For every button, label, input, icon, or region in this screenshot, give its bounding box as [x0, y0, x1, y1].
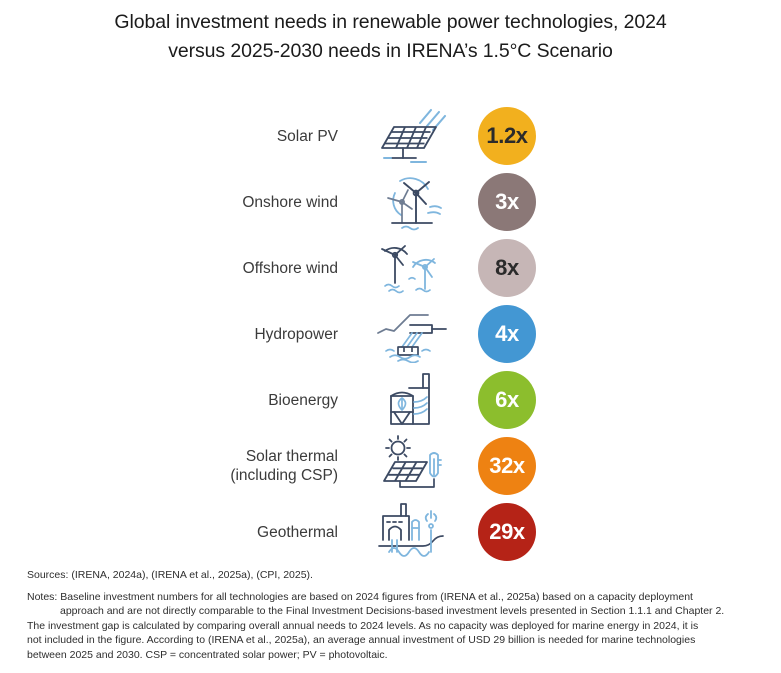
- table-row: Onshore wind: [0, 169, 781, 235]
- table-row: Offshore wind: [0, 235, 781, 301]
- notes-line-3: The investment gap is calculated by comp…: [27, 619, 762, 634]
- badge-circle: 32x: [478, 437, 536, 495]
- row-label-line1: Offshore wind: [243, 260, 338, 277]
- row-label-solar-thermal: Solar thermal (including CSP): [150, 447, 338, 485]
- row-label-line1: Solar PV: [277, 128, 338, 145]
- page-title: Global investment needs in renewable pow…: [0, 8, 781, 66]
- row-label-onshore-wind: Onshore wind: [150, 193, 338, 212]
- notes-line-4: not included in the figure. According to…: [27, 633, 762, 648]
- notes-text: Notes: Baseline investment numbers for a…: [27, 590, 762, 663]
- row-label-bioenergy: Bioenergy: [150, 391, 338, 410]
- footnotes: Sources: (IRENA, 2024a), (IRENA et al., …: [27, 568, 762, 663]
- bioenergy-icon: [366, 367, 458, 433]
- table-row: Solar thermal (including CSP): [0, 433, 781, 499]
- multiplier-badge-solar-pv: 1.2x: [478, 107, 536, 165]
- badge-circle: 8x: [478, 239, 536, 297]
- multiplier-badge-geothermal: 29x: [478, 503, 536, 561]
- badge-circle: 1.2x: [478, 107, 536, 165]
- row-label-hydropower: Hydropower: [150, 325, 338, 344]
- title-line-1: Global investment needs in renewable pow…: [0, 8, 781, 37]
- title-line-2: versus 2025-2030 needs in IRENA’s 1.5°C …: [0, 37, 781, 66]
- multiplier-badge-bioenergy: 6x: [478, 371, 536, 429]
- notes-line-5: between 2025 and 2030. CSP = concentrate…: [27, 648, 762, 663]
- badge-circle: 4x: [478, 305, 536, 363]
- row-label-solar-pv: Solar PV: [150, 127, 338, 146]
- row-label-line1: Geothermal: [257, 524, 338, 541]
- badge-circle: 3x: [478, 173, 536, 231]
- table-row: Bioenergy: [0, 367, 781, 433]
- row-label-offshore-wind: Offshore wind: [150, 259, 338, 278]
- multiplier-badge-offshore-wind: 8x: [478, 239, 536, 297]
- offshore-wind-icon: [366, 235, 458, 301]
- row-label-line1: Hydropower: [254, 326, 338, 343]
- geothermal-icon: [366, 499, 458, 565]
- badge-circle: 6x: [478, 371, 536, 429]
- onshore-wind-icon: [366, 169, 458, 235]
- table-row: Solar PV: [0, 103, 781, 169]
- row-label-line1: Solar thermal: [246, 448, 338, 465]
- badge-circle: 29x: [478, 503, 536, 561]
- notes-line-1: Notes: Baseline investment numbers for a…: [27, 590, 762, 605]
- technology-rows: Solar PV: [0, 103, 781, 565]
- hydropower-icon: [366, 301, 458, 367]
- multiplier-badge-onshore-wind: 3x: [478, 173, 536, 231]
- row-label-line1: Bioenergy: [268, 392, 338, 409]
- solar-thermal-icon: [366, 433, 458, 499]
- notes-line-2: approach and are not directly comparable…: [27, 604, 762, 619]
- multiplier-badge-solar-thermal: 32x: [478, 437, 536, 495]
- solar-pv-icon: [366, 103, 458, 169]
- table-row: Hydropower: [0, 301, 781, 367]
- row-label-line1: Onshore wind: [242, 194, 338, 211]
- row-label-geothermal: Geothermal: [150, 523, 338, 542]
- sources-text: Sources: (IRENA, 2024a), (IRENA et al., …: [27, 568, 762, 583]
- multiplier-badge-hydropower: 4x: [478, 305, 536, 363]
- table-row: Geothermal: [0, 499, 781, 565]
- row-label-line2: (including CSP): [150, 466, 338, 485]
